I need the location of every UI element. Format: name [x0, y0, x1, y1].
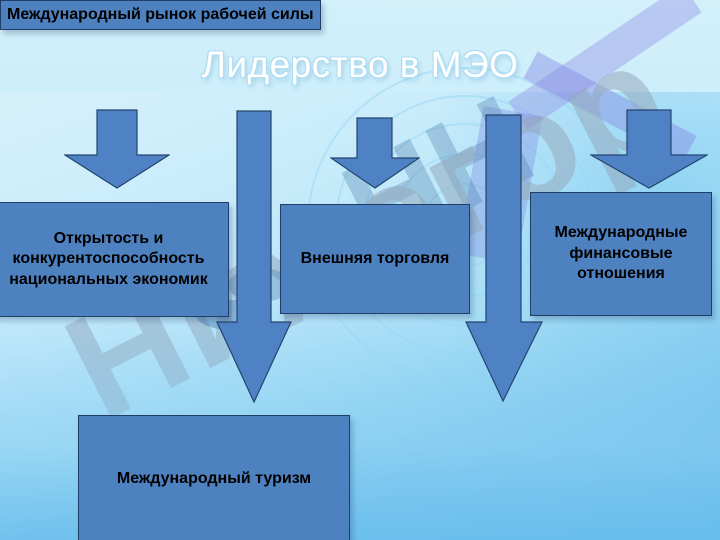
arrow-to-finance-icon — [590, 109, 708, 189]
box-finance[interactable]: Международные финансовые отношения — [530, 192, 712, 316]
box-tourism[interactable]: Международный туризм — [78, 415, 350, 540]
box-openness[interactable]: Открытость и конкурентоспособность нацио… — [0, 202, 229, 317]
box-labor-market[interactable]: Международный рынок рабочей силы — [0, 0, 321, 30]
arrow-to-openness-icon — [64, 109, 170, 189]
box-tourism-label: Международный туризм — [85, 469, 343, 489]
slide-canvas: НН Нижегор Лидерство в МЭО Открытость и … — [0, 0, 720, 540]
box-openness-label: Открытость и конкурентоспособность нацио… — [0, 229, 222, 290]
page-title: Лидерство в МЭО — [0, 44, 720, 86]
box-trade-label: Внешняя торговля — [287, 249, 463, 269]
box-labor-market-label: Международный рынок рабочей силы — [7, 5, 314, 25]
box-trade[interactable]: Внешняя торговля — [280, 204, 470, 314]
box-finance-label: Международные финансовые отношения — [537, 223, 705, 284]
arrow-to-trade-icon — [330, 117, 420, 189]
